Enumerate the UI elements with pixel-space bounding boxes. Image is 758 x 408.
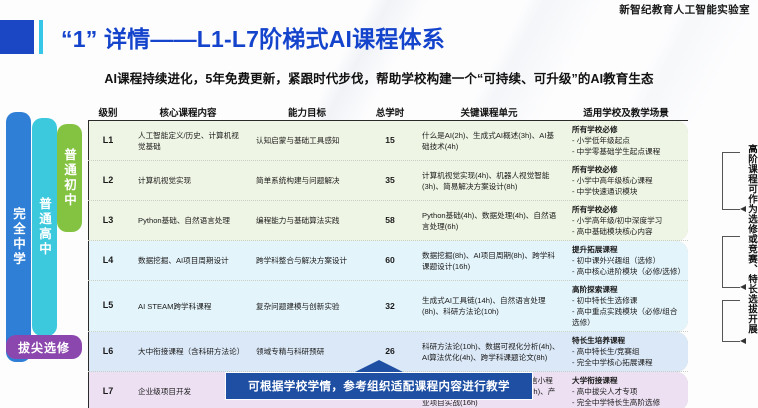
cell-total-hours: 15 — [366, 131, 414, 149]
cell-level: L6 — [88, 342, 128, 361]
table-row[interactable]: L2计算机视觉实现简单系统构建与问题解决35计算机视觉实现(4h)、机器人视觉智… — [88, 161, 688, 201]
scene-line: - 中学快速通识模块 — [572, 186, 684, 197]
cell-school-scene: 所有学校必修- 小学高年级/初中深度学习- 高中基础模块核心内容 — [564, 201, 688, 240]
cell-ability-goal: 简单系统构建与问题解决 — [248, 172, 366, 189]
cell-core-content: 大中衔接课程（含科研方法论） — [128, 343, 248, 360]
scene-heading: 提升拓展课程 — [572, 244, 684, 255]
brand-label: 新智纪教育人工智能实验室 — [619, 2, 750, 17]
column-header-scene: 适用学校及教学场景 — [564, 105, 688, 119]
cell-ability-goal: 认知启蒙与基础工具感知 — [248, 132, 366, 149]
cell-ability-goal: 复杂问题建模与创新实验 — [248, 298, 366, 315]
cell-key-units: 数据挖掘(8h)、AI项目周期(8h)、跨学科课题设计(16h) — [414, 247, 564, 275]
bottom-banner-wrap: 可根据学校学情，参考组织适配课程内容进行教学 — [0, 360, 758, 400]
scene-heading: 高阶探索课程 — [572, 284, 684, 295]
table-header-row: 级别 核心课程内容 能力目标 总学时 关键课程单元 适用学校及教学场景 — [88, 102, 688, 121]
bracket-group-b — [722, 236, 740, 288]
scene-line: - 初中课外兴趣组（选修） — [572, 255, 684, 266]
cell-level: L4 — [88, 251, 128, 270]
table-row[interactable]: L1人工智能定义/历史、计算机视觉基础认知启蒙与基础工具感知15什么是AI(2h… — [88, 121, 688, 161]
bracket-group-a — [722, 152, 740, 210]
scene-line: - 高中核心进阶模块（必修/选修） — [572, 266, 684, 277]
cell-level: L5 — [88, 296, 128, 315]
right-annotation: 高阶课程可作为选修或竞赛、特长选拔开展 — [740, 144, 756, 369]
cell-core-content: 计算机视觉实现 — [128, 172, 248, 189]
cell-school-scene: 提升拓展课程- 初中课外兴趣组（选修）- 高中核心进阶模块（必修/选修） — [564, 241, 688, 280]
cell-key-units: 计算机视觉实现(4h)、机器人视觉智能(3h)、简易解决方案设计(8h) — [414, 167, 564, 195]
cell-total-hours: 32 — [366, 297, 414, 315]
cell-level: L1 — [88, 131, 128, 150]
stage-label-senior-high: 普通高中 — [32, 118, 57, 336]
cell-level: L3 — [88, 211, 128, 230]
cell-core-content: 数据挖掘、AI项目周期设计 — [128, 252, 248, 269]
cell-core-content: Python基础、自然语言处理 — [128, 212, 248, 229]
scene-heading: 所有学校必修 — [572, 164, 684, 175]
scene-line: - 小学低年级起点 — [572, 135, 684, 146]
cell-key-units: Python基础(4h)、数据处理(4h)、自然语言处理(6h) — [414, 207, 564, 235]
scene-line: - 高中重点实践模块（必修/组合选修） — [572, 306, 684, 328]
table-row[interactable]: L5AI STEAM跨学科课程复杂问题建模与创新实验32生成式AI工具链(14h… — [88, 281, 688, 332]
table-row[interactable]: L4数据挖掘、AI项目周期设计跨学科整合与解决方案设计60数据挖掘(8h)、AI… — [88, 241, 688, 281]
column-header-goal: 能力目标 — [248, 105, 366, 119]
table-row[interactable]: L3Python基础、自然语言处理编程能力与基础算法实践58Python基础(4… — [88, 201, 688, 241]
cell-core-content: AI STEAM跨学科课程 — [128, 298, 248, 315]
bracket-group-c — [722, 300, 740, 342]
column-header-level: 级别 — [88, 105, 128, 119]
cell-total-hours: 60 — [366, 251, 414, 269]
scene-line: - 小学中高年级核心课程 — [572, 175, 684, 186]
scene-heading: 所有学校必修 — [572, 124, 684, 135]
cell-ability-goal: 跨学科整合与解决方案设计 — [248, 252, 366, 269]
scene-line: - 小学高年级/初中深度学习 — [572, 215, 684, 226]
cell-total-hours: 26 — [366, 342, 414, 360]
page-title: “1” 详情——L1-L7阶梯式AI课程体系 — [61, 20, 445, 54]
stage-label-junior-high: 普通初中 — [57, 124, 82, 232]
cell-school-scene: 所有学校必修- 小学低年级起点- 中学零基础学生起点课程 — [564, 121, 688, 160]
title-accent-bar — [39, 20, 43, 54]
cell-ability-goal: 领域专精与科研预研 — [248, 343, 366, 360]
column-header-hours: 总学时 — [366, 105, 414, 119]
cell-school-scene: 所有学校必修- 小学中高年级核心课程- 中学快速通识模块 — [564, 161, 688, 200]
cell-key-units: 什么是AI(2h)、生成式AI概述(3h)、AI基础技术(4h) — [414, 127, 564, 155]
scene-heading: 特长生培养课程 — [572, 335, 684, 346]
scene-line: - 中学零基础学生起点课程 — [572, 146, 684, 157]
stage-label-elite-elective: 拔尖选修 — [6, 335, 82, 359]
page-subtitle: AI课程持续进化，5年免费更新，紧跟时代步伐，帮助学校构建一个“可持续、可升级”… — [0, 68, 758, 87]
cell-total-hours: 35 — [366, 171, 414, 189]
slide-title-row: “1” 详情——L1-L7阶梯式AI课程体系 — [0, 20, 445, 54]
scene-heading: 所有学校必修 — [572, 204, 684, 215]
column-header-core: 核心课程内容 — [128, 105, 248, 119]
bottom-banner-text: 可根据学校学情，参考组织适配课程内容进行教学 — [225, 372, 533, 400]
slide-stage: 新智纪教育人工智能实验室 “1” 详情——L1-L7阶梯式AI课程体系 AI课程… — [0, 0, 758, 408]
cell-total-hours: 58 — [366, 211, 414, 229]
scene-line: - 初中特长生选修课 — [572, 295, 684, 306]
cell-key-units: 生成式AI工具链(14h)、自然语言处理(8h)、科研方法论(10h) — [414, 292, 564, 320]
title-accent-block — [0, 20, 34, 54]
cell-level: L2 — [88, 171, 128, 190]
scene-line: - 高中特长生/竞赛组 — [572, 346, 684, 357]
cell-school-scene: 高阶探索课程- 初中特长生选修课- 高中重点实践模块（必修/组合选修） — [564, 281, 688, 331]
cell-ability-goal: 编程能力与基础算法实践 — [248, 212, 366, 229]
scene-line: - 高中基础模块核心内容 — [572, 226, 684, 237]
high-level-brackets — [712, 150, 740, 365]
cell-core-content: 人工智能定义/历史、计算机视觉基础 — [128, 127, 248, 155]
stage-label-full-secondary: 完全中学 — [6, 112, 31, 362]
column-header-units: 关键课程单元 — [414, 105, 564, 119]
